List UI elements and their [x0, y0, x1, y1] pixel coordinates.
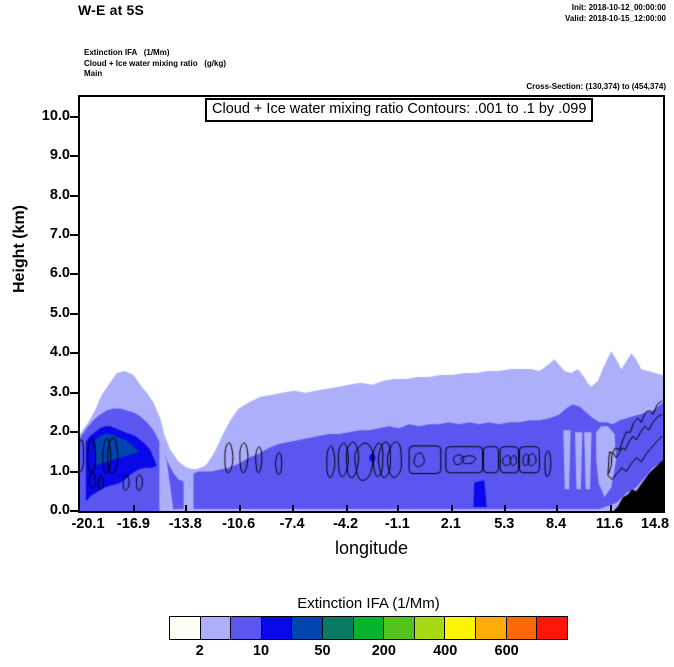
colorbar-swatch	[262, 617, 293, 639]
x-tick-label: 11.6	[596, 516, 623, 532]
x-tick-mark	[451, 505, 453, 513]
colorbar-tick-label: 10	[253, 643, 269, 659]
colorbar-swatch	[170, 617, 201, 639]
colorbar-labels: 21050200400600	[169, 643, 568, 663]
y-tick-mark	[70, 313, 78, 315]
y-tick-label: 3.0	[8, 384, 70, 400]
y-tick-mark	[70, 510, 78, 512]
colorbar-tick-label: 2	[196, 643, 204, 659]
colorbar-swatch	[476, 617, 507, 639]
y-tick-mark	[70, 471, 78, 473]
x-tick-mark	[292, 505, 294, 513]
x-tick-label: -10.6	[222, 516, 255, 532]
y-tick-mark	[70, 116, 78, 118]
colorbar-swatch	[537, 617, 567, 639]
x-tick-mark	[556, 505, 558, 513]
x-tick-label: -20.1	[71, 516, 104, 532]
colorbar-swatch	[507, 617, 538, 639]
y-tick-mark	[70, 392, 78, 394]
colorbar-swatch	[292, 617, 323, 639]
cross-section-field	[80, 97, 663, 511]
y-tick-label: 4.0	[8, 344, 70, 360]
y-tick-mark	[70, 352, 78, 354]
x-tick-label: -4.2	[333, 516, 358, 532]
x-tick-label: 2.1	[441, 516, 461, 532]
colorbar-tick-label: 400	[433, 643, 457, 659]
x-tick-label: -1.1	[385, 516, 410, 532]
x-tick-mark	[610, 505, 612, 513]
x-tick-mark	[504, 505, 506, 513]
y-tick-mark	[70, 431, 78, 433]
y-tick-mark	[70, 155, 78, 157]
x-tick-mark	[185, 505, 187, 513]
colorbar-swatch	[445, 617, 476, 639]
colorbar-tick-label: 50	[314, 643, 330, 659]
cross-section-info: Cross-Section: (130,374) to (454,374)	[526, 82, 666, 91]
x-axis-title: longitude	[78, 538, 665, 559]
contour-banner: Cloud + Ice water mixing ratio Contours:…	[205, 98, 593, 122]
x-tick-label: -13.8	[169, 516, 202, 532]
page-title: W-E at 5S	[78, 2, 144, 18]
y-tick-mark	[70, 273, 78, 275]
x-tick-mark	[133, 505, 135, 513]
colorbar	[169, 616, 568, 640]
init-time: Init: 2018-10-12_00:00:00	[565, 2, 666, 13]
y-tick-label: 2.0	[8, 423, 70, 439]
x-tick-label: 14.8	[641, 516, 669, 532]
y-tick-label: 9.0	[8, 147, 70, 163]
colorbar-swatch	[354, 617, 385, 639]
x-tick-mark	[397, 505, 399, 513]
field-description: Extinction IFA (1/Mm) Cloud + Ice water …	[84, 48, 226, 80]
y-tick-mark	[70, 234, 78, 236]
colorbar-swatch	[384, 617, 415, 639]
plot-area	[78, 95, 665, 513]
colorbar-tick-label: 600	[495, 643, 519, 659]
colorbar-swatch	[231, 617, 262, 639]
colorbar-swatch	[415, 617, 446, 639]
y-tick-mark	[70, 195, 78, 197]
x-tick-label: 5.3	[494, 516, 514, 532]
colorbar-swatch	[201, 617, 232, 639]
x-tick-label: -16.9	[117, 516, 150, 532]
colorbar-title: Extinction IFA (1/Mm)	[169, 595, 568, 612]
valid-time: Valid: 2018-10-15_12:00:00	[565, 13, 666, 24]
run-time-block: Init: 2018-10-12_00:00:00 Valid: 2018-10…	[565, 2, 666, 24]
x-tick-mark	[346, 505, 348, 513]
colorbar-tick-label: 200	[372, 643, 396, 659]
x-tick-label: -7.4	[280, 516, 305, 532]
y-axis-title: Height (km)	[11, 179, 29, 319]
x-axis-labels: -20.1-16.9-13.8-10.6-7.4-4.2-1.12.15.38.…	[78, 516, 665, 536]
y-tick-label: 0.0	[8, 502, 70, 518]
y-tick-label: 10.0	[8, 108, 70, 124]
x-tick-label: 8.4	[546, 516, 566, 532]
x-tick-mark	[239, 505, 241, 513]
colorbar-swatch	[323, 617, 354, 639]
y-tick-label: 1.0	[8, 463, 70, 479]
